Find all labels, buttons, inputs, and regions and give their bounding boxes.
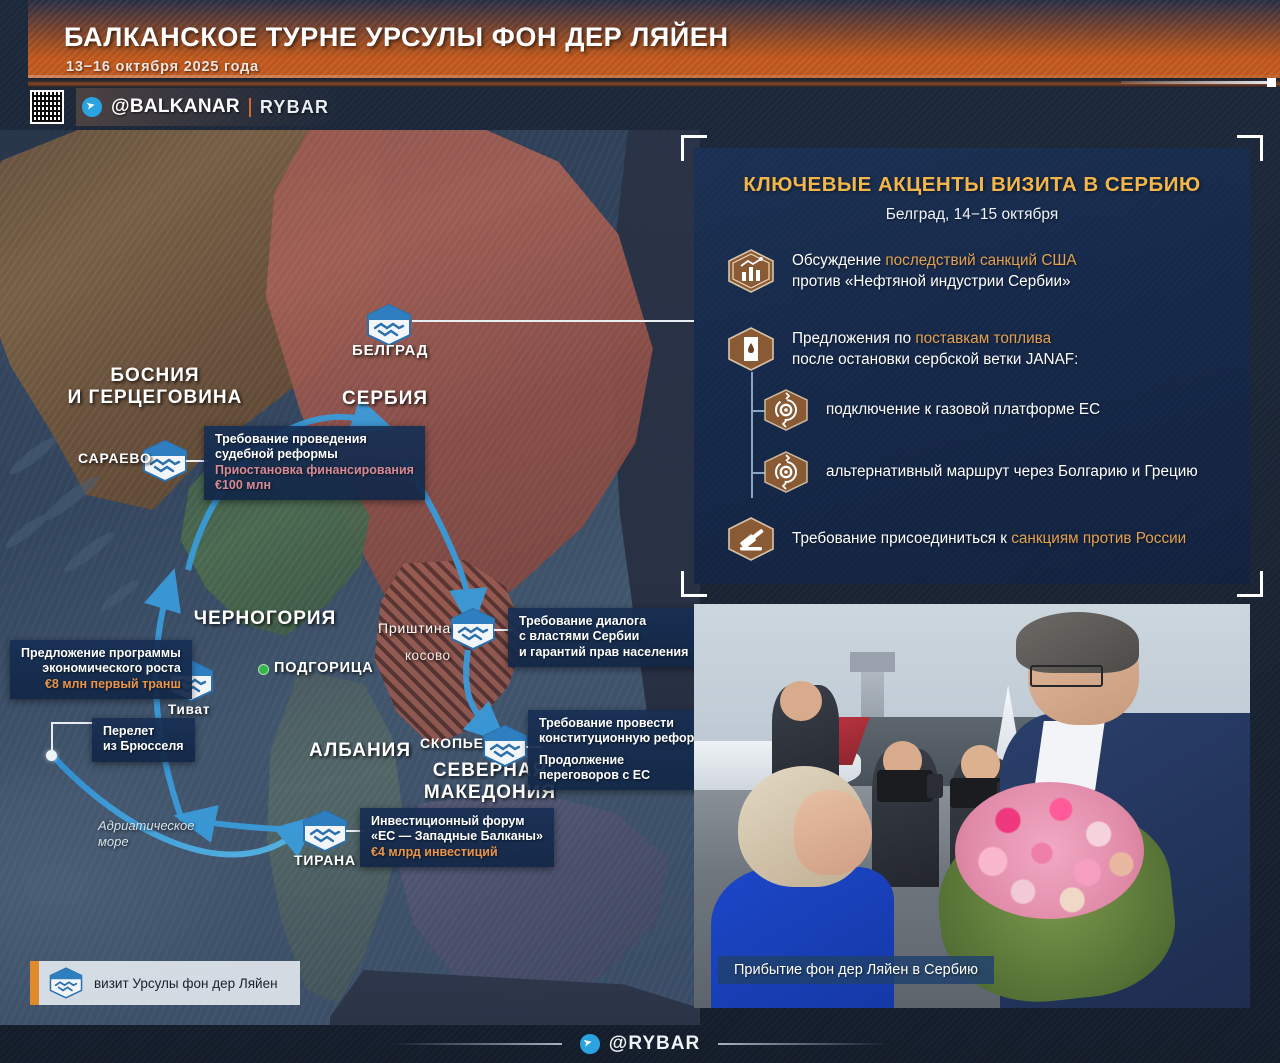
gear-cycle-icon bbox=[762, 450, 810, 494]
footer-bar: @RYBAR bbox=[0, 1025, 1280, 1063]
page-title: БАЛКАНСКОЕ ТУРНЕ УРСУЛЫ ФОН ДЕР ЛЯЙЕН bbox=[64, 22, 729, 53]
page-subtitle: 13−16 октября 2025 года bbox=[66, 59, 259, 75]
callout-skopje: Требование провести конституционную рефо… bbox=[528, 710, 700, 790]
callout-tivat: Предложение программы экономического рос… bbox=[10, 640, 192, 699]
photo-arrival: Прибытие фон дер Ляйен в Сербию bbox=[694, 604, 1250, 1008]
gear-cycle-icon bbox=[762, 388, 810, 432]
city-label-tirana: ТИРАНА bbox=[294, 852, 356, 868]
country-label-serbia: СЕРБИЯ bbox=[330, 388, 440, 410]
panel-item-russia-sanctions: Требование присоединиться к санкциям про… bbox=[726, 516, 1186, 562]
panel-item-sanctions-text: Обсуждение последствий санкций США проти… bbox=[792, 250, 1077, 292]
city-label-sarajevo: САРАЕВО bbox=[78, 450, 152, 466]
sea-label-adriatic: Адриатическоеморе bbox=[98, 818, 195, 851]
leader-belgrade-panel bbox=[412, 320, 700, 322]
corner-bracket-top-left bbox=[681, 135, 707, 161]
leader-brussels-h bbox=[51, 722, 95, 724]
corner-bracket-bottom-right bbox=[1237, 571, 1263, 597]
infographic-root: БАЛКАНСКОЕ ТУРНЕ УРСУЛЫ ФОН ДЕР ЛЯЙЕН 13… bbox=[0, 0, 1280, 1063]
channel-name: @BALKANAR bbox=[111, 96, 240, 118]
footer-line-right bbox=[718, 1043, 888, 1045]
photo-bouquet-flowers bbox=[955, 782, 1144, 919]
photo-vucic-glasses bbox=[1030, 665, 1102, 687]
footer-line-left bbox=[392, 1043, 562, 1045]
photo-bodyguard-head bbox=[780, 681, 822, 721]
brand-text-group: @BALKANAR RYBAR bbox=[76, 88, 343, 126]
partner-name: RYBAR bbox=[260, 97, 329, 118]
callout-brussels: Перелет из Брюсселя bbox=[92, 718, 195, 762]
city-label-belgrade: БЕЛГРАД bbox=[352, 342, 428, 359]
photo-bracket-bottom-right bbox=[1237, 995, 1250, 1008]
callout-sarajevo: Требование проведения судебной реформы П… bbox=[204, 426, 425, 500]
balkans-map: БОСНИЯИ ГЕРЦЕГОВИНА СЕРБИЯ ЧЕРНОГОРИЯ АЛ… bbox=[0, 130, 700, 1025]
corner-bracket-top-right bbox=[1237, 135, 1263, 161]
country-label-bosnia: БОСНИЯИ ГЕРЦЕГОВИНА bbox=[50, 365, 260, 409]
marker-skopje[interactable] bbox=[482, 725, 528, 767]
region-label-kosovo: косово bbox=[405, 648, 451, 663]
handshake-hexagon-icon bbox=[49, 967, 83, 999]
rail-track bbox=[1121, 81, 1276, 84]
map-legend: визит Урсулы фон дер Ляйен bbox=[30, 961, 300, 1005]
country-label-albania: АЛБАНИЯ bbox=[305, 740, 415, 762]
telegram-icon bbox=[580, 1034, 600, 1054]
panel-item-russia-sanctions-text: Требование присоединиться к санкциям про… bbox=[792, 528, 1186, 549]
city-label-skopje: СКОПЬЕ bbox=[420, 735, 484, 751]
brand-strip: @BALKANAR RYBAR bbox=[28, 88, 428, 126]
legend-label: визит Урсулы фон дер Ляйен bbox=[94, 976, 278, 991]
qr-code-icon bbox=[30, 90, 64, 124]
photo-vucic-hair bbox=[1016, 612, 1138, 673]
capital-dot-podgorica bbox=[258, 664, 269, 675]
photo-bracket-top-right bbox=[1237, 604, 1250, 617]
marker-belgrade[interactable] bbox=[366, 304, 412, 346]
footer-label: @RYBAR bbox=[609, 1033, 700, 1055]
photo-vucic-shirt bbox=[1034, 721, 1105, 790]
photo-bracket-bottom-left bbox=[694, 995, 707, 1008]
city-label-tivat: Тиват bbox=[168, 702, 210, 717]
panel-item-alt-route: альтернативный маршрут через Болгарию и … bbox=[762, 450, 1198, 494]
panel-item-gas-platform-text: подключение к газовой платформе ЕС bbox=[826, 399, 1100, 420]
header-banner: БАЛКАНСКОЕ ТУРНЕ УРСУЛЫ ФОН ДЕР ЛЯЙЕН 13… bbox=[28, 0, 1280, 78]
panel-item-gas-platform: подключение к газовой платформе ЕС bbox=[762, 388, 1100, 432]
tree-connector-vertical bbox=[751, 372, 753, 498]
panel-item-fuel: Предложения по поставкам топлива после о… bbox=[726, 326, 1078, 372]
callout-pristina: Требование диалога с властями Сербии и г… bbox=[508, 608, 699, 667]
marker-pristina[interactable] bbox=[450, 608, 496, 650]
bar-chart-icon bbox=[726, 248, 776, 294]
photo-vdl-body bbox=[711, 867, 894, 1008]
header-rail bbox=[28, 78, 1280, 88]
country-label-montenegro: ЧЕРНОГОРИЯ bbox=[190, 608, 340, 630]
photo-caption: Прибытие фон дер Ляйен в Сербию bbox=[718, 956, 994, 984]
panel-item-fuel-text: Предложения по поставкам топлива после о… bbox=[792, 328, 1078, 370]
telegram-icon bbox=[82, 97, 102, 117]
city-label-podgorica: ПОДГОРИЦА bbox=[274, 660, 374, 676]
leader-brussels-v bbox=[51, 722, 53, 752]
rail-knob bbox=[1267, 78, 1276, 87]
gavel-icon bbox=[726, 516, 776, 562]
photo-camera-1 bbox=[877, 770, 933, 802]
photo-scene bbox=[694, 604, 1250, 1008]
city-label-pristina: Приштина bbox=[378, 620, 451, 636]
marker-tirana[interactable] bbox=[302, 810, 348, 852]
panel-item-alt-route-text: альтернативный маршрут через Болгарию и … bbox=[826, 461, 1198, 482]
callout-tirana: Инвестиционный форум «ЕС — Западные Балк… bbox=[360, 808, 554, 867]
panel-item-sanctions: Обсуждение последствий санкций США проти… bbox=[726, 248, 1077, 294]
photo-vdl-face bbox=[794, 790, 872, 875]
key-highlights-panel: КЛЮЧЕВЫЕ АКЦЕНТЫ ВИЗИТА В СЕРБИЮ Белград… bbox=[694, 148, 1250, 584]
photo-bracket-top-left bbox=[694, 604, 707, 617]
corner-bracket-bottom-left bbox=[681, 571, 707, 597]
panel-subtitle: Белград, 14−15 октября bbox=[694, 206, 1250, 224]
panel-title: КЛЮЧЕВЫЕ АКЦЕНТЫ ВИЗИТА В СЕРБИЮ bbox=[694, 173, 1250, 197]
brand-divider bbox=[249, 98, 251, 117]
oil-drop-icon bbox=[726, 326, 776, 372]
footer-brand-group: @RYBAR bbox=[562, 1033, 718, 1055]
